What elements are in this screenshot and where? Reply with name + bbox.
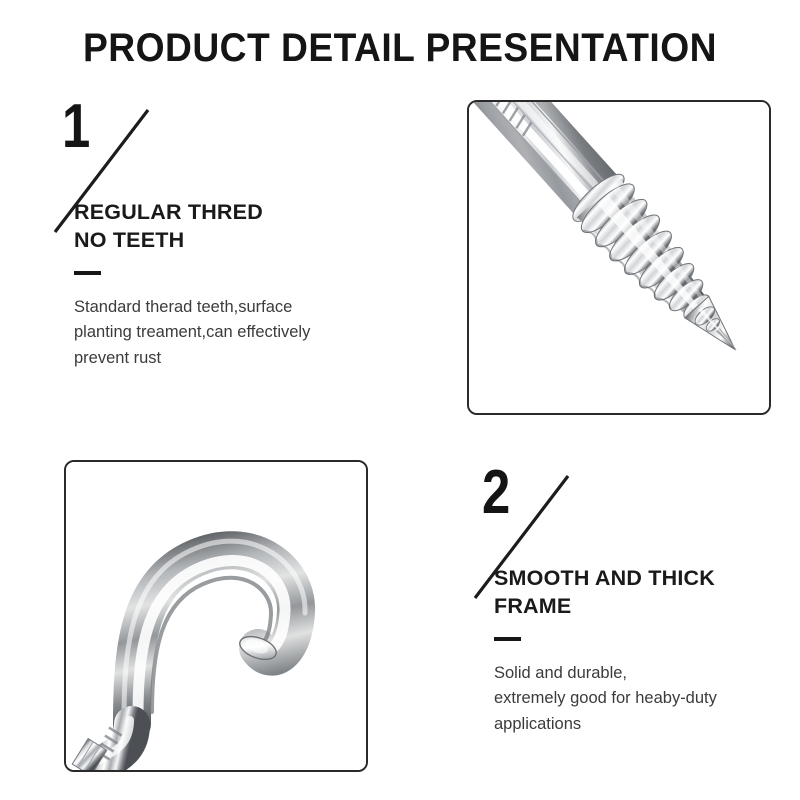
feature-1-body: Standard therad teeth,surface planting t…	[74, 295, 392, 372]
hook-photo-frame	[64, 460, 368, 772]
feature-1-heading: REGULAR THRED NO TEETH	[52, 198, 392, 255]
feature-2-number-row: 2	[472, 466, 800, 558]
screw-photo-frame	[467, 100, 771, 415]
hook-frame-closeup-photo	[66, 462, 366, 770]
feature-2-heading: SMOOTH AND THICK FRAME	[472, 564, 800, 621]
feature-1-number: 1	[62, 96, 90, 158]
screw-thread-closeup-photo	[469, 102, 769, 413]
product-detail-page: PRODUCT DETAIL PRESENTATION 1 REGULAR TH…	[0, 0, 800, 800]
feature-1-number-row: 1	[52, 100, 392, 192]
feature-2-number: 2	[482, 462, 510, 524]
feature-block-2: 2 SMOOTH AND THICK FRAME Solid and durab…	[472, 466, 800, 737]
feature-1-divider	[74, 271, 101, 275]
feature-2-divider	[494, 637, 521, 641]
feature-block-1: 1 REGULAR THRED NO TEETH Standard therad…	[52, 100, 392, 371]
feature-2-body: Solid and durable, extremely good for he…	[494, 661, 800, 738]
page-title: PRODUCT DETAIL PRESENTATION	[28, 26, 772, 71]
